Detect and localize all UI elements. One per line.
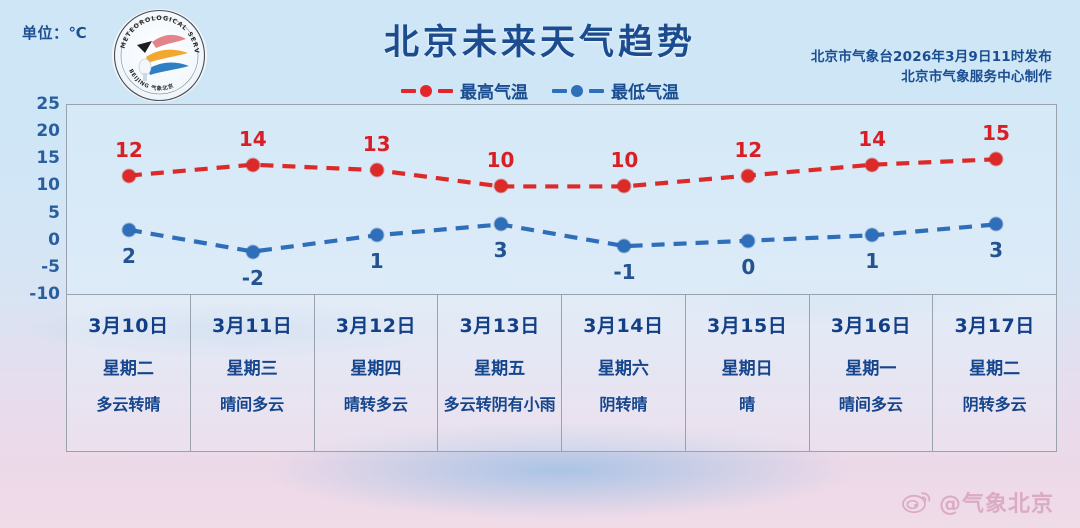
forecast-weekday: 星期六 [598,354,649,379]
forecast-date: 3月10日 [88,311,168,338]
y-axis: 2520151050-5-10 [0,104,60,294]
forecast-date: 3月13日 [460,311,540,338]
forecast-weekday: 星期二 [103,354,154,379]
y-tick-5: 5 [48,203,60,223]
watermark-text: @气象北京 [939,486,1054,518]
value-label-lo-7: 3 [989,238,1003,262]
forecast-condition: 晴 [735,395,759,415]
data-point-hi-7 [990,153,1003,166]
forecast-weekday: 星期三 [227,354,278,379]
value-label-hi-0: 12 [115,138,143,162]
forecast-weekday: 星期一 [845,354,896,379]
weibo-icon [902,490,932,514]
value-label-hi-5: 12 [734,138,762,162]
forecast-date: 3月15日 [707,311,787,338]
forecast-date: 3月16日 [831,311,911,338]
value-label-lo-4: -1 [613,260,635,284]
value-label-lo-3: 3 [494,238,508,262]
value-label-lo-5: 0 [741,255,755,279]
data-point-lo-5 [742,234,755,247]
value-label-lo-1: -2 [242,266,264,290]
forecast-weekday: 星期四 [350,354,401,379]
value-label-hi-7: 15 [982,121,1010,145]
y-tick-0: 0 [48,230,60,250]
value-label-hi-2: 13 [363,132,391,156]
forecast-weekday: 星期二 [969,354,1020,379]
y-tick--10: -10 [29,284,60,304]
legend-label-high: 最高气温 [460,78,528,103]
data-point-lo-6 [866,229,879,242]
forecast-condition: 晴转多云 [340,395,412,415]
forecast-column-6[interactable]: 3月16日星期一晴间多云 [810,295,934,451]
data-point-lo-2 [370,229,383,242]
data-point-hi-4 [618,180,631,193]
value-label-hi-6: 14 [858,127,886,151]
forecast-condition: 阴转晴 [595,395,651,415]
y-tick-15: 15 [36,148,60,168]
forecast-column-1[interactable]: 3月11日星期三晴间多云 [191,295,315,451]
y-tick-25: 25 [36,94,60,114]
forecast-column-2[interactable]: 3月12日星期四晴转多云 [315,295,439,451]
chart-plot-area: 12141310101214152-213-1013 [66,104,1057,294]
forecast-column-4[interactable]: 3月14日星期六阴转晴 [562,295,686,451]
data-point-hi-5 [742,169,755,182]
data-point-lo-7 [990,218,1003,231]
data-point-lo-1 [246,245,259,258]
forecast-column-5[interactable]: 3月15日星期日晴 [686,295,810,451]
forecast-date: 3月17日 [955,311,1035,338]
forecast-condition: 阴转多云 [959,395,1031,415]
forecast-column-7[interactable]: 3月17日星期二阴转多云 [933,295,1056,451]
data-point-hi-2 [370,164,383,177]
weibo-watermark: @气象北京 [902,486,1054,518]
forecast-condition: 晴间多云 [216,395,288,415]
chart-legend: 最高气温 最低气温 [0,78,1080,103]
y-tick-20: 20 [36,121,60,141]
value-label-hi-3: 10 [487,148,515,172]
data-point-hi-6 [866,158,879,171]
data-point-hi-3 [494,180,507,193]
value-label-hi-1: 14 [239,127,267,151]
data-point-hi-0 [122,169,135,182]
value-label-lo-2: 1 [370,249,384,273]
forecast-column-0[interactable]: 3月10日星期二多云转晴 [67,295,191,451]
legend-item-low: 最低气温 [552,78,679,103]
legend-marker-high-icon [401,85,453,97]
forecast-table: 3月10日星期二多云转晴3月11日星期三晴间多云3月12日星期四晴转多云3月13… [66,294,1057,452]
legend-label-low: 最低气温 [611,78,679,103]
forecast-date: 3月14日 [583,311,663,338]
data-point-lo-3 [494,218,507,231]
legend-marker-low-icon [552,85,604,97]
forecast-condition: 晴间多云 [835,395,907,415]
data-point-lo-4 [618,240,631,253]
value-label-hi-4: 10 [611,148,639,172]
data-point-lo-0 [122,223,135,236]
data-point-hi-1 [246,158,259,171]
value-label-lo-0: 2 [122,244,136,268]
forecast-weekday: 星期五 [474,354,525,379]
y-tick-10: 10 [36,175,60,195]
chart-lines [67,105,1058,295]
publisher-line-1: 北京市气象台2026年3月9日11时发布 [811,48,1052,68]
forecast-date: 3月11日 [212,311,292,338]
legend-item-high: 最高气温 [401,78,528,103]
forecast-column-3[interactable]: 3月13日星期五多云转阴有小雨 [438,295,562,451]
forecast-weekday: 星期日 [722,354,773,379]
value-label-lo-6: 1 [865,249,879,273]
forecast-condition: 多云转晴 [92,395,164,415]
forecast-date: 3月12日 [336,311,416,338]
y-tick--5: -5 [41,257,60,277]
forecast-condition: 多云转阴有小雨 [440,395,560,415]
